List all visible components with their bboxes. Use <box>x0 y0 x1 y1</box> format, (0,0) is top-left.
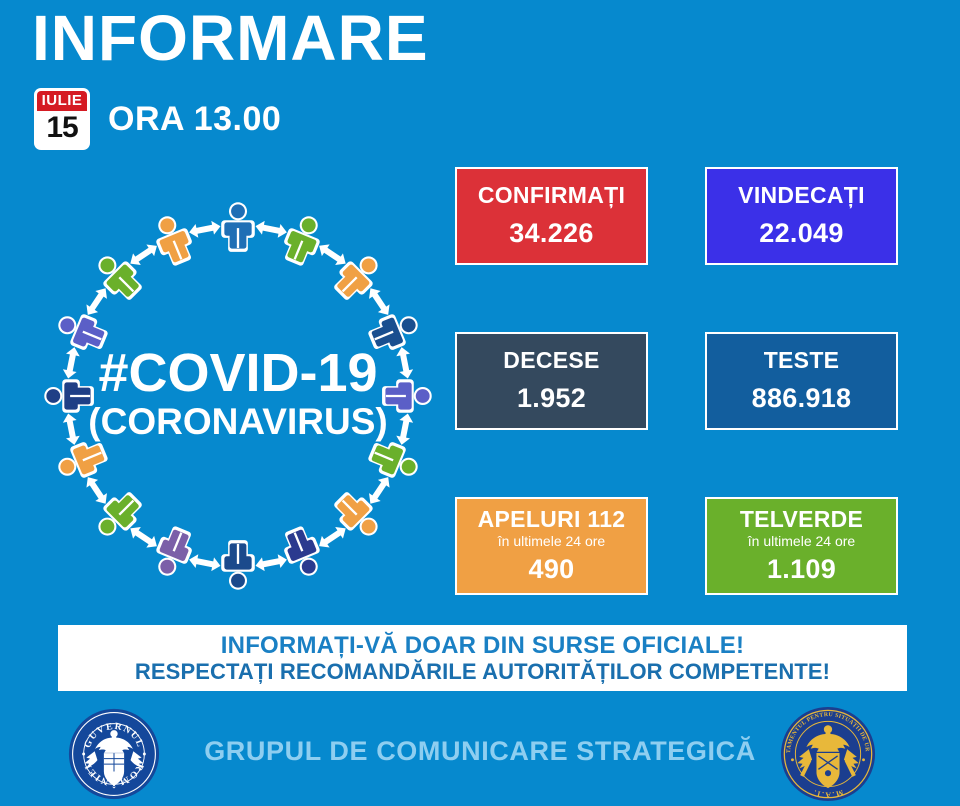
double-arrow-icon <box>254 553 288 573</box>
calendar-day-label: 15 <box>37 111 87 147</box>
stat-box-confirmati: CONFIRMAȚI 34.226 <box>455 167 648 265</box>
stat-value: 22.049 <box>759 218 843 249</box>
stat-label: TESTE <box>764 348 840 373</box>
stat-label: TELVERDE <box>740 507 863 532</box>
stat-value: 1.952 <box>517 383 586 414</box>
person-icon <box>148 211 198 270</box>
double-arrow-icon <box>126 240 160 269</box>
stat-row-2: DECESE 1.952 TESTE 886.918 <box>455 332 900 430</box>
covid-circle-svg: #COVID-19 (CORONAVIRUS) <box>28 186 448 606</box>
person-icon <box>221 540 255 590</box>
hour-label: ORA 13.00 <box>108 100 281 139</box>
double-arrow-icon <box>365 473 394 507</box>
stat-sublabel: în ultimele 24 ore <box>748 533 855 550</box>
double-arrow-icon <box>61 412 81 446</box>
double-arrow-icon <box>82 284 111 318</box>
statistics-grid: CONFIRMAȚI 34.226 VINDECAȚI 22.049 DECES… <box>455 167 900 595</box>
double-arrow-icon <box>395 412 415 446</box>
person-icon <box>44 379 94 413</box>
date-time-row: IULIE 15 ORA 13.00 <box>34 88 281 150</box>
covid-subtitle-text: (CORONAVIRUS) <box>88 401 387 442</box>
double-arrow-icon <box>126 523 160 552</box>
person-icon <box>148 523 198 582</box>
stat-box-teste: TESTE 886.918 <box>705 332 898 430</box>
person-icon <box>278 523 328 582</box>
double-arrow-icon <box>188 219 222 239</box>
person-icon <box>278 211 328 270</box>
stat-box-vindecati: VINDECAȚI 22.049 <box>705 167 898 265</box>
stat-sublabel: în ultimele 24 ore <box>498 533 605 550</box>
stat-value: 1.109 <box>767 554 836 585</box>
person-icon <box>365 436 424 486</box>
stat-row-1: CONFIRMAȚI 34.226 VINDECAȚI 22.049 <box>455 167 900 265</box>
calendar-icon: IULIE 15 <box>34 88 90 150</box>
stat-value: 490 <box>529 554 575 585</box>
banner-line-1: INFORMAȚI-VĂ DOAR DIN SURSE OFICIALE! <box>221 632 744 660</box>
double-arrow-icon <box>315 240 349 269</box>
stat-label: DECESE <box>503 348 599 373</box>
stat-box-telverde: TELVERDE în ultimele 24 ore 1.109 <box>705 497 898 595</box>
person-icon <box>53 436 112 486</box>
double-arrow-icon <box>365 284 394 318</box>
stat-label: VINDECAȚI <box>738 183 865 208</box>
stat-box-apeluri-112: APELURI 112 în ultimele 24 ore 490 <box>455 497 648 595</box>
double-arrow-icon <box>254 219 288 239</box>
stat-value: 886.918 <box>752 383 852 414</box>
official-sources-banner: INFORMAȚI-VĂ DOAR DIN SURSE OFICIALE! RE… <box>58 625 907 691</box>
person-icon <box>382 379 432 413</box>
header: INFORMARE IULIE 15 ORA 13.00 <box>0 0 960 160</box>
stat-value: 34.226 <box>509 218 593 249</box>
covid-circle-graphic: #COVID-19 (CORONAVIRUS) <box>28 186 448 606</box>
departamentul-situatii-urgenta-seal-icon: DEPARTAMENTUL PENTRU SITUAȚII DE URGENȚĂ… <box>780 706 876 802</box>
double-arrow-icon <box>315 523 349 552</box>
covid-hashtag-text: #COVID-19 <box>98 343 377 403</box>
stat-label: CONFIRMAȚI <box>478 183 625 208</box>
stat-label: APELURI 112 <box>478 507 626 532</box>
double-arrow-icon <box>188 553 222 573</box>
guvernul-romaniei-seal-icon: GUVERNUL ROMÂNIEI <box>68 708 160 800</box>
stat-row-3: APELURI 112 în ultimele 24 ore 490 TELVE… <box>455 497 900 595</box>
double-arrow-icon <box>82 473 111 507</box>
double-arrow-icon <box>395 346 415 380</box>
stat-box-decese: DECESE 1.952 <box>455 332 648 430</box>
double-arrow-icon <box>61 346 81 380</box>
page-title: INFORMARE <box>32 6 429 70</box>
banner-line-2: RESPECTAȚI RECOMANDĂRILE AUTORITĂȚILOR C… <box>135 659 830 684</box>
person-icon <box>221 202 255 252</box>
calendar-month-label: IULIE <box>37 91 87 111</box>
